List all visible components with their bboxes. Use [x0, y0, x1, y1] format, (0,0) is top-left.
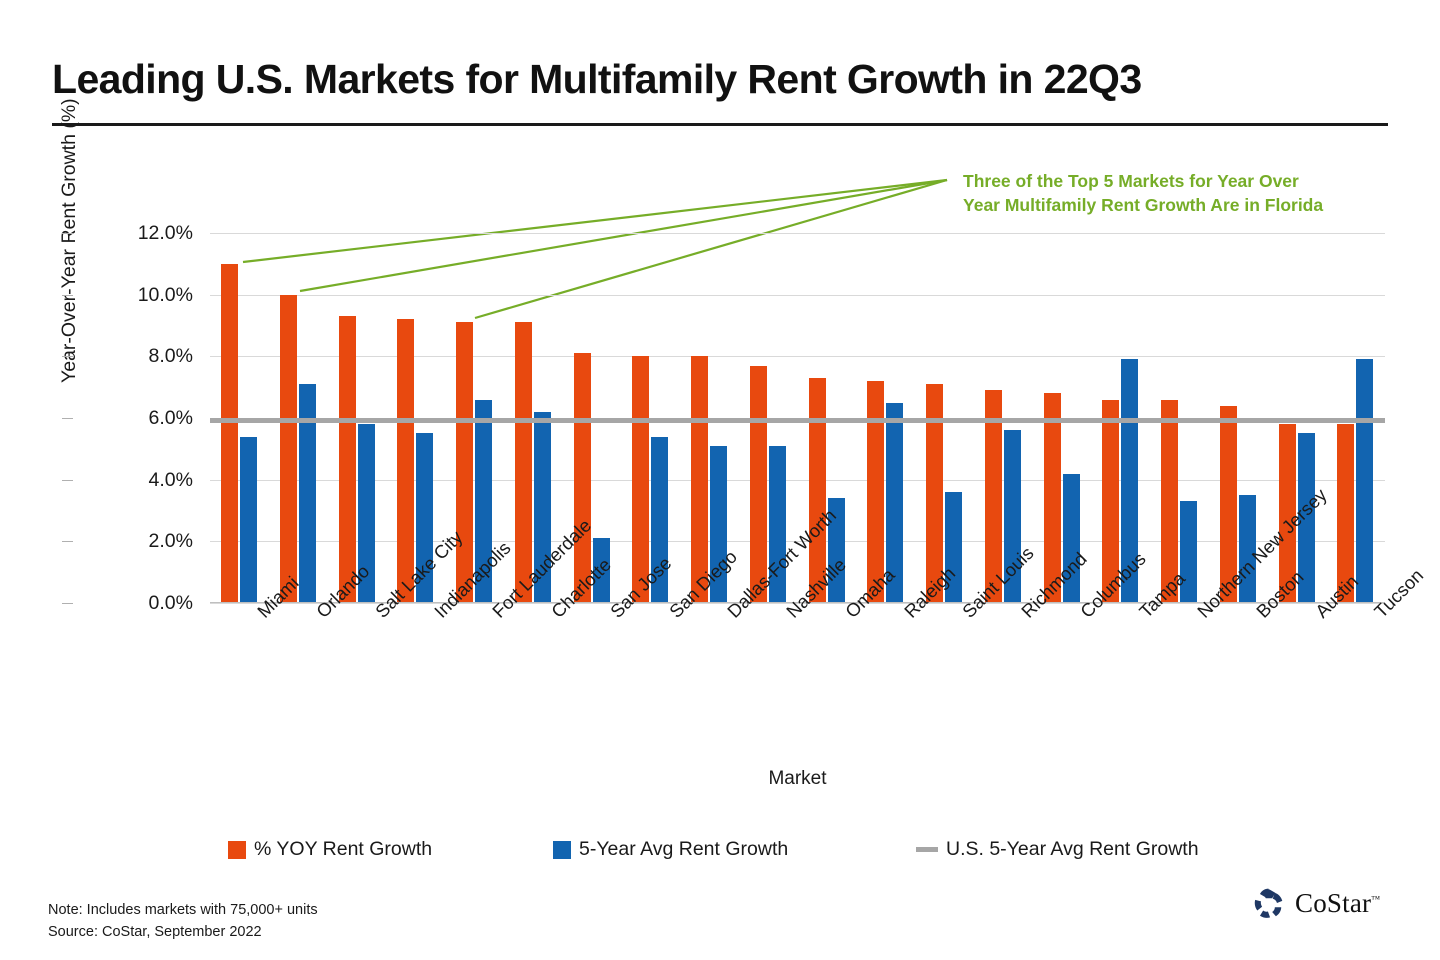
x-axis-tick-label: Omaha	[841, 607, 857, 623]
y-axis-tick-mark	[62, 541, 73, 542]
annotation-line-2: Year Multifamily Rent Growth Are in Flor…	[963, 194, 1363, 218]
legend-item[interactable]: % YOY Rent Growth	[228, 838, 432, 861]
footer-notes: Note: Includes markets with 75,000+ unit…	[48, 900, 318, 944]
x-axis-tick-label: Nashville	[782, 607, 798, 623]
bar-yoy-rent-growth	[280, 295, 297, 603]
y-axis-tick-mark	[62, 295, 73, 296]
y-axis-tick-mark	[62, 233, 73, 234]
bar-yoy-rent-growth	[515, 322, 532, 603]
bar-5yr-avg-rent-growth	[240, 437, 257, 604]
bar-5yr-avg-rent-growth	[1356, 359, 1373, 603]
bar-yoy-rent-growth	[397, 319, 414, 603]
x-axis-tick-label: San Diego	[665, 607, 681, 623]
y-axis-tick-label: 4.0%	[73, 469, 193, 492]
costar-wordmark: CoStar™	[1295, 888, 1380, 919]
legend-color-swatch	[228, 841, 246, 859]
x-axis-tick-labels: MiamiOrlandoSalt Lake CityIndianapolisFo…	[210, 607, 1385, 747]
y-axis-tick-label: 6.0%	[73, 407, 193, 430]
y-axis-tick-label: 8.0%	[73, 345, 193, 368]
y-axis-tick-label: 2.0%	[73, 530, 193, 553]
costar-word-text: CoStar	[1295, 888, 1371, 918]
us-average-reference-line	[210, 418, 1385, 423]
bar-yoy-rent-growth	[456, 322, 473, 603]
legend-label: % YOY Rent Growth	[254, 838, 432, 861]
y-axis-tick-label: 10.0%	[73, 284, 193, 307]
x-axis-tick-label: Fort Lauderdale	[488, 607, 504, 623]
x-axis-tick-label: Northern New Jersey	[1193, 607, 1209, 623]
costar-pinwheel-icon	[1252, 886, 1286, 920]
note-line: Note: Includes markets with 75,000+ unit…	[48, 900, 318, 922]
x-axis-tick-label: San Jose	[606, 607, 622, 623]
legend-color-swatch	[553, 841, 571, 859]
legend-line-swatch	[916, 847, 938, 852]
chart-legend: % YOY Rent Growth5-Year Avg Rent GrowthU…	[228, 838, 1248, 868]
x-axis-tick-label: Saint Louis	[958, 607, 974, 623]
x-axis-tick-label: Boston	[1252, 607, 1268, 623]
chart-page: Leading U.S. Markets for Multifamily Ren…	[0, 0, 1440, 960]
x-axis-tick-label: Charlotte	[547, 607, 563, 623]
x-axis-tick-label: Raleigh	[900, 607, 916, 623]
y-axis-tick-mark	[62, 480, 73, 481]
x-axis-tick-label: Richmond	[1017, 607, 1033, 623]
x-axis-tick-label: Dallas-Fort Worth	[723, 607, 739, 623]
y-axis-tick-label: 12.0%	[73, 222, 193, 245]
y-axis-tick-mark	[62, 418, 73, 419]
y-axis-tick-label: 0.0%	[73, 592, 193, 615]
legend-label: 5-Year Avg Rent Growth	[579, 838, 788, 861]
annotation-line-1: Three of the Top 5 Markets for Year Over	[963, 170, 1363, 194]
x-axis-tick-label: Columbus	[1076, 607, 1092, 623]
x-axis-tick-label: Tampa	[1135, 607, 1151, 623]
x-axis-tick-label: Salt Lake City	[371, 607, 387, 623]
y-axis-tick-mark	[62, 356, 73, 357]
costar-logo: CoStar™	[1252, 886, 1380, 920]
x-axis-title: Market	[210, 768, 1385, 790]
annotation-text: Three of the Top 5 Markets for Year Over…	[963, 170, 1363, 217]
x-axis-tick-label: Miami	[253, 607, 269, 623]
bar-yoy-rent-growth	[339, 316, 356, 603]
page-title: Leading U.S. Markets for Multifamily Ren…	[52, 56, 1392, 103]
legend-item[interactable]: U.S. 5-Year Avg Rent Growth	[916, 838, 1199, 861]
x-axis-tick-label: Orlando	[312, 607, 328, 623]
trademark-symbol: ™	[1371, 894, 1380, 904]
legend-item[interactable]: 5-Year Avg Rent Growth	[553, 838, 788, 861]
source-line: Source: CoStar, September 2022	[48, 922, 318, 944]
title-divider	[52, 123, 1388, 126]
x-axis-tick-label: Indianapolis	[430, 607, 446, 623]
x-axis-tick-label: Austin	[1311, 607, 1327, 623]
bar-yoy-rent-growth	[221, 264, 238, 603]
x-axis-tick-label: Tucson	[1370, 607, 1386, 623]
y-axis-tick-mark	[62, 603, 73, 604]
legend-label: U.S. 5-Year Avg Rent Growth	[946, 838, 1199, 861]
